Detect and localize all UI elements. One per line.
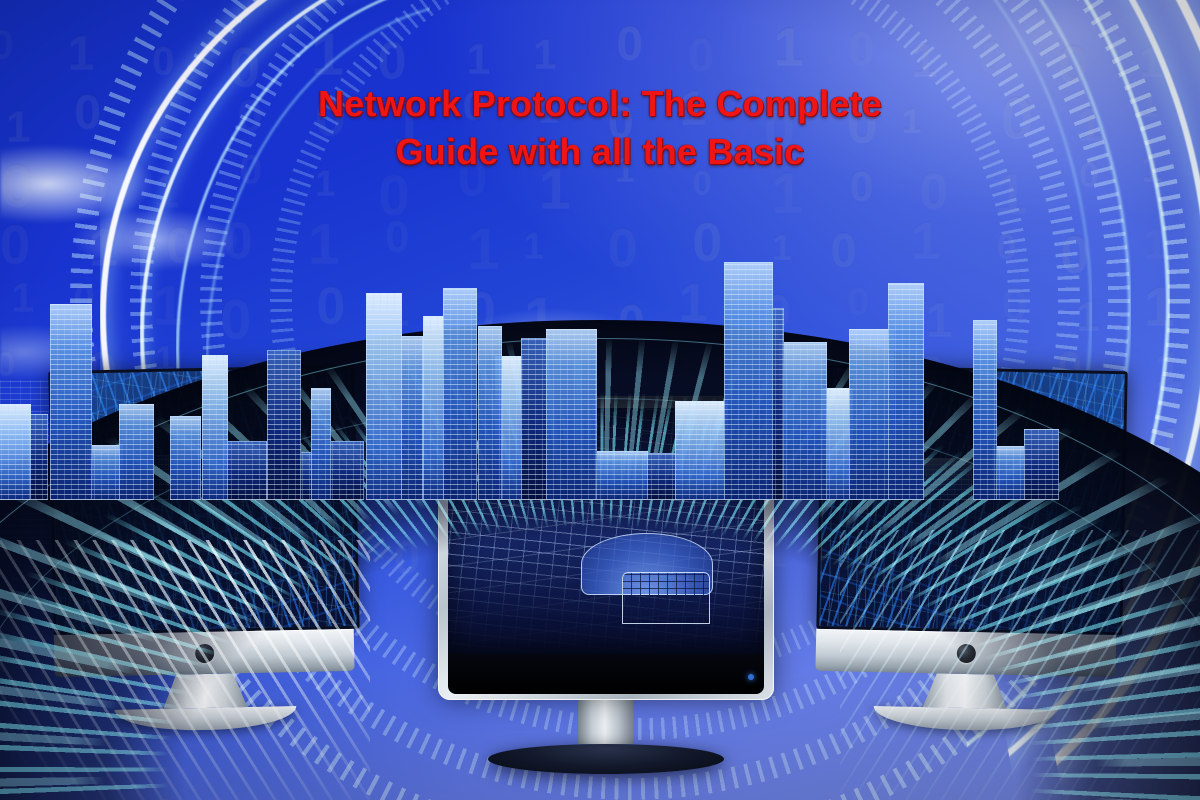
banner-title-line1: Network Protocol: The Complete <box>0 80 1200 128</box>
skyline-building <box>401 336 423 500</box>
skyline-building <box>267 350 301 500</box>
skyline-building <box>888 283 924 500</box>
skyline-building <box>119 404 154 500</box>
skyline-building <box>779 342 827 500</box>
skyline-building <box>224 441 267 500</box>
skyline-building <box>0 404 31 500</box>
skyline-building <box>50 304 92 500</box>
skyline-building <box>311 388 331 500</box>
banner-title-line2: Guide with all the Basic <box>0 128 1200 176</box>
skyline-building <box>28 414 48 500</box>
skyline-building <box>992 446 1026 500</box>
skyline-building <box>546 329 597 500</box>
skyline-building <box>973 320 997 500</box>
skyline-building <box>423 316 444 500</box>
skyline-building <box>724 262 773 500</box>
skyline-building <box>593 451 648 500</box>
skyline-building <box>202 355 228 500</box>
bottom-left-streaks <box>0 540 370 800</box>
bottom-right-streaks <box>840 530 1200 800</box>
skyline-building <box>675 401 728 500</box>
skyline-building <box>170 416 201 500</box>
skyline-building <box>366 293 402 500</box>
skyline-building <box>87 445 123 500</box>
banner-image: 0100101100101001101001010100101100101001… <box>0 0 1200 800</box>
skyline-building <box>521 338 549 500</box>
skyline-building <box>1024 429 1059 500</box>
skyline-building <box>443 288 477 500</box>
skyline-building <box>478 326 502 500</box>
